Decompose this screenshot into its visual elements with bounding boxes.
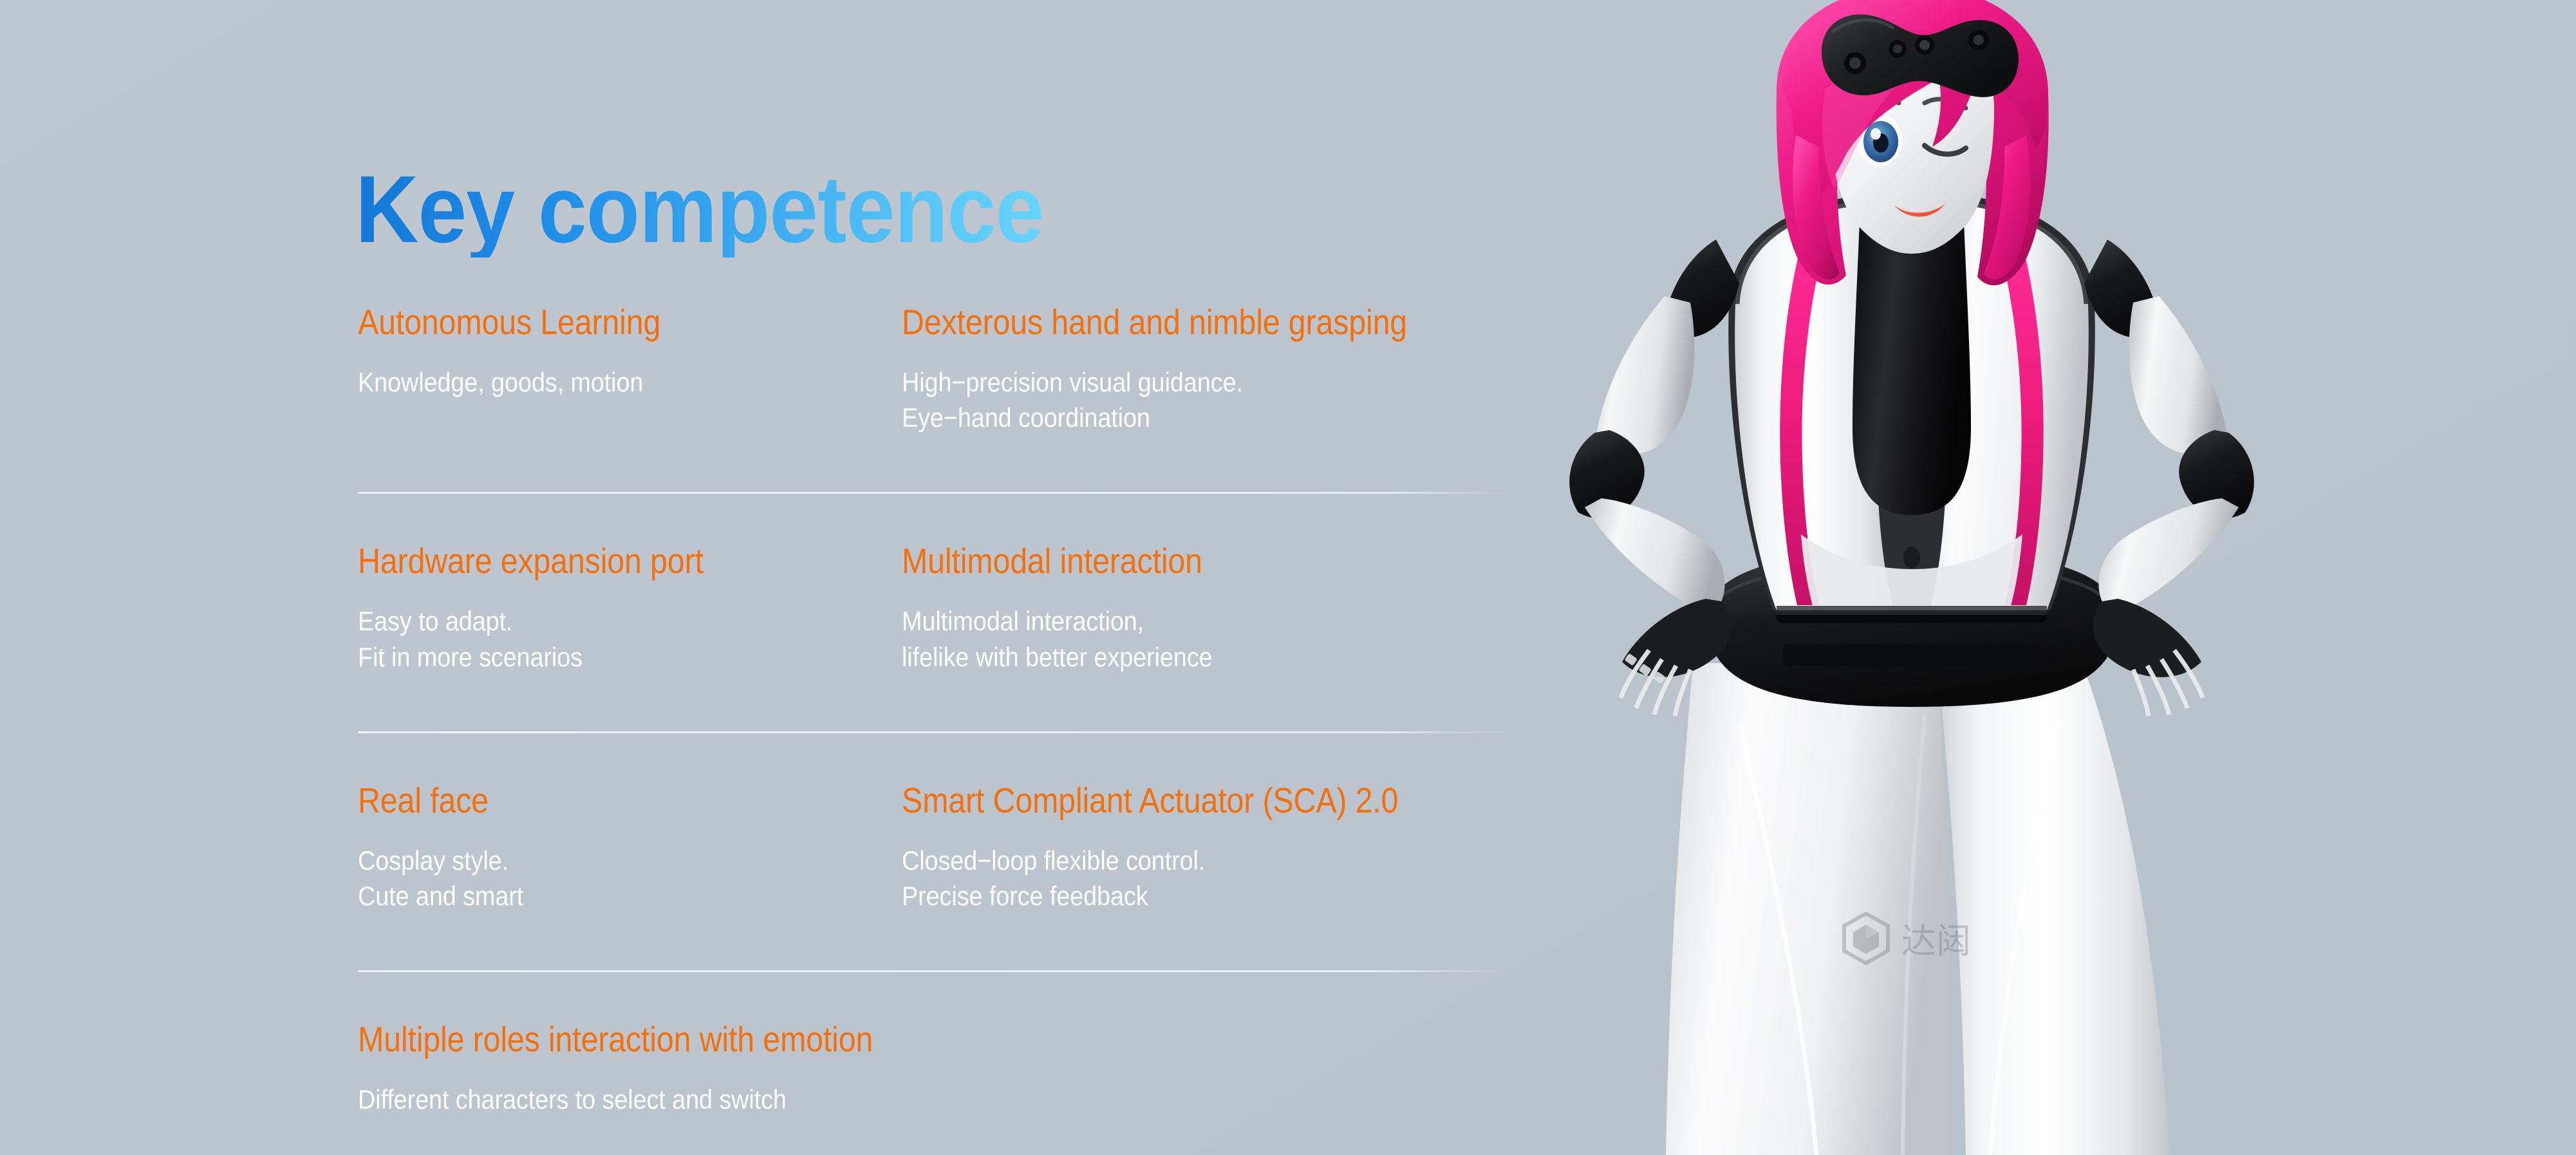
feature-item-multimodal-interaction[interactable]: Multimodal interaction Multimodal intera… <box>902 541 1510 674</box>
feature-row: Hardware expansion port Easy to adapt. F… <box>358 541 1510 674</box>
row-spacer <box>358 494 1510 541</box>
row-spacer <box>358 972 1510 1020</box>
robot-right-arm <box>2084 239 2254 716</box>
feature-description: Easy to adapt. Fit in more scenarios <box>358 603 848 675</box>
feature-heading: Hardware expansion port <box>358 541 837 581</box>
feature-item-real-face[interactable]: Real face Cosplay style. Cute and smart <box>358 781 902 914</box>
feature-heading: Real face <box>358 781 837 821</box>
feature-row: Multiple roles interaction with emotion … <box>358 1020 1510 1117</box>
feature-heading: Autonomous Learning <box>358 303 837 343</box>
brand-logo-text: 达闼 <box>1901 922 1971 961</box>
feature-description: Multimodal interaction, lifelike with be… <box>902 603 1450 675</box>
feature-heading: Smart Compliant Actuator (SCA) 2.0 <box>902 781 1437 821</box>
page-title: Key competence <box>355 162 1043 258</box>
feature-item-hardware-expansion-port[interactable]: Hardware expansion port Easy to adapt. F… <box>358 541 902 674</box>
feature-description: Closed−loop flexible control. Precise fo… <box>902 843 1450 914</box>
robot-lower-body <box>1666 663 2169 1155</box>
feature-heading: Multimodal interaction <box>902 541 1437 581</box>
robot-illustration: 达闼 <box>1500 0 2337 1155</box>
feature-heading: Dexterous hand and nimble grasping <box>902 303 1437 343</box>
feature-description: High−precision visual guidance. Eye−hand… <box>902 364 1450 436</box>
feature-grid: Autonomous Learning Knowledge, goods, mo… <box>358 303 1510 1117</box>
feature-heading: Multiple roles interaction with emotion <box>358 1020 1372 1060</box>
row-spacer <box>358 435 1510 492</box>
slide-canvas: Key competence Autonomous Learning Knowl… <box>0 0 2576 1155</box>
row-spacer <box>358 733 1510 781</box>
robot-head <box>1777 0 2049 285</box>
robot-left-arm <box>1569 239 1739 716</box>
row-spacer <box>358 675 1510 731</box>
feature-item-autonomous-learning[interactable]: Autonomous Learning Knowledge, goods, mo… <box>358 303 902 435</box>
row-spacer <box>358 914 1510 970</box>
feature-row: Real face Cosplay style. Cute and smart … <box>358 781 1510 914</box>
feature-description: Different characters to select and switc… <box>358 1082 1395 1117</box>
feature-item-dexterous-hand[interactable]: Dexterous hand and nimble grasping High−… <box>902 303 1510 435</box>
feature-item-smart-compliant-actuator[interactable]: Smart Compliant Actuator (SCA) 2.0 Close… <box>902 781 1510 914</box>
feature-description: Knowledge, goods, motion <box>358 364 848 400</box>
feature-item-multiple-roles-interaction[interactable]: Multiple roles interaction with emotion … <box>358 1020 1510 1117</box>
feature-row: Autonomous Learning Knowledge, goods, mo… <box>358 303 1510 435</box>
feature-description: Cosplay style. Cute and smart <box>358 843 848 914</box>
